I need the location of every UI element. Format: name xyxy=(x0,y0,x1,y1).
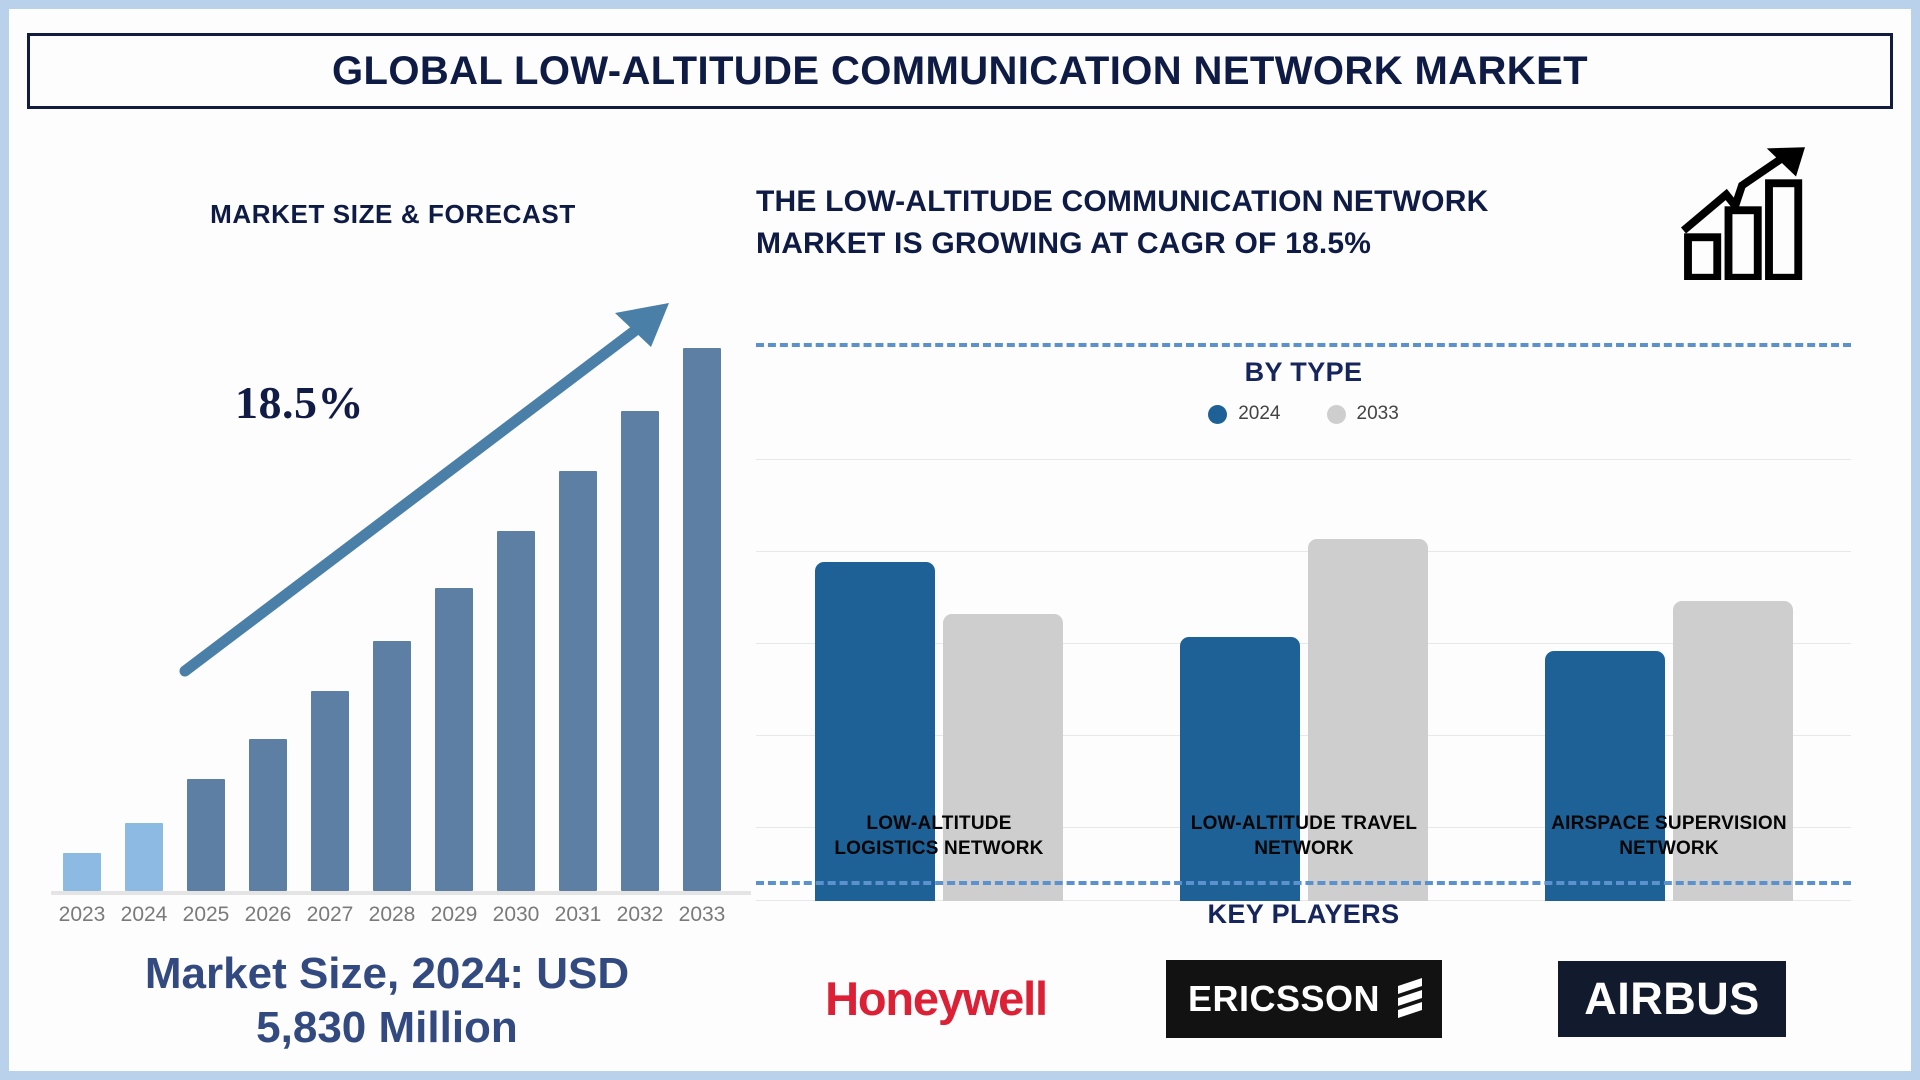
left-chart-bar xyxy=(187,779,225,891)
cagr-headline: THE LOW-ALTITUDE COMMUNICATION NETWORK M… xyxy=(756,181,1616,265)
growth-bar-chart-arrow-icon xyxy=(1679,145,1814,280)
left-chart-bar xyxy=(249,739,287,891)
category-label-line: LOW-ALTITUDE TRAVEL xyxy=(1191,813,1417,834)
logo-airbus-text: AIRBUS xyxy=(1558,961,1786,1037)
left-chart-year-label: 2025 xyxy=(175,903,237,927)
by-type-legend: 2024 2033 xyxy=(756,403,1851,425)
chart-gridline xyxy=(756,551,1851,552)
divider-top xyxy=(756,343,1851,347)
category-label-line: NETWORK xyxy=(1254,838,1354,859)
left-chart-year-label: 2028 xyxy=(361,903,423,927)
left-chart-year-label: 2032 xyxy=(609,903,671,927)
category-label-line: LOW-ALTITUDE xyxy=(866,813,1011,834)
key-players-logos: Honeywell ERICSSON AIRBUS xyxy=(756,951,1851,1061)
category-label-line: LOGISTICS NETWORK xyxy=(834,838,1043,859)
left-chart-bar xyxy=(125,823,163,891)
ericsson-waves-icon xyxy=(1396,976,1426,1022)
legend-item-2024: 2024 xyxy=(1208,403,1280,425)
left-chart-bar xyxy=(63,853,101,891)
legend-dot-icon-2024 xyxy=(1208,405,1227,424)
left-chart-year-label: 2023 xyxy=(51,903,113,927)
left-chart-axis xyxy=(51,891,751,895)
by-type-category-label: LOW-ALTITUDE TRAVELNETWORK xyxy=(1114,811,1494,861)
legend-label-2033: 2033 xyxy=(1357,403,1399,425)
left-chart-bar xyxy=(311,691,349,891)
chart-gridline xyxy=(756,459,1851,460)
by-type-category-label: LOW-ALTITUDELOGISTICS NETWORK xyxy=(749,811,1129,861)
left-chart-year-label: 2024 xyxy=(113,903,175,927)
logo-airbus: AIRBUS xyxy=(1492,951,1852,1046)
by-type-category-label: AIRSPACE SUPERVISIONNETWORK xyxy=(1479,811,1859,861)
legend-label-2024: 2024 xyxy=(1238,403,1280,425)
left-chart-bar xyxy=(621,411,659,891)
left-chart-year-label: 2029 xyxy=(423,903,485,927)
logo-honeywell: Honeywell xyxy=(756,951,1116,1046)
logo-ericsson-box: ERICSSON xyxy=(1166,960,1442,1038)
left-chart-year-labels: 2023202420252026202720282029203020312032… xyxy=(51,903,751,937)
legend-dot-icon-2033 xyxy=(1327,405,1346,424)
divider-bottom xyxy=(756,881,1851,885)
key-players-title: KEY PLAYERS xyxy=(756,899,1851,930)
page-title: GLOBAL LOW-ALTITUDE COMMUNICATION NETWOR… xyxy=(332,49,1588,94)
logo-honeywell-text: Honeywell xyxy=(825,971,1047,1026)
logo-ericsson-text: ERICSSON xyxy=(1188,978,1380,1020)
by-type-panel: THE LOW-ALTITUDE COMMUNICATION NETWORK M… xyxy=(751,121,1901,1061)
title-banner: GLOBAL LOW-ALTITUDE COMMUNICATION NETWOR… xyxy=(27,33,1893,109)
logo-ericsson: ERICSSON xyxy=(1124,951,1484,1046)
market-size-value: Market Size, 2024: USD 5,830 Million xyxy=(37,947,737,1054)
by-type-category-labels: LOW-ALTITUDELOGISTICS NETWORKLOW-ALTITUD… xyxy=(756,811,1851,881)
market-size-bar-chart xyxy=(51,291,751,891)
left-chart-bar xyxy=(559,471,597,891)
left-chart-year-label: 2030 xyxy=(485,903,547,927)
market-size-forecast-panel: MARKET SIZE & FORECAST 18.5% 20232024202… xyxy=(27,121,747,1061)
left-chart-bar xyxy=(683,348,721,891)
left-chart-year-label: 2033 xyxy=(671,903,733,927)
by-type-title: BY TYPE xyxy=(756,357,1851,388)
infographic-root: GLOBAL LOW-ALTITUDE COMMUNICATION NETWOR… xyxy=(0,0,1920,1080)
market-size-line-1: Market Size, 2024: USD xyxy=(145,949,629,998)
left-chart-bar xyxy=(373,641,411,891)
left-chart-year-label: 2026 xyxy=(237,903,299,927)
left-chart-bar xyxy=(497,531,535,891)
legend-item-2033: 2033 xyxy=(1327,403,1399,425)
category-label-line: AIRSPACE SUPERVISION xyxy=(1551,813,1787,834)
left-chart-year-label: 2031 xyxy=(547,903,609,927)
left-chart-bar xyxy=(435,588,473,891)
market-size-line-2: 5,830 Million xyxy=(256,1003,518,1052)
left-section-heading: MARKET SIZE & FORECAST xyxy=(133,199,653,230)
category-label-line: NETWORK xyxy=(1619,838,1719,859)
left-chart-year-label: 2027 xyxy=(299,903,361,927)
